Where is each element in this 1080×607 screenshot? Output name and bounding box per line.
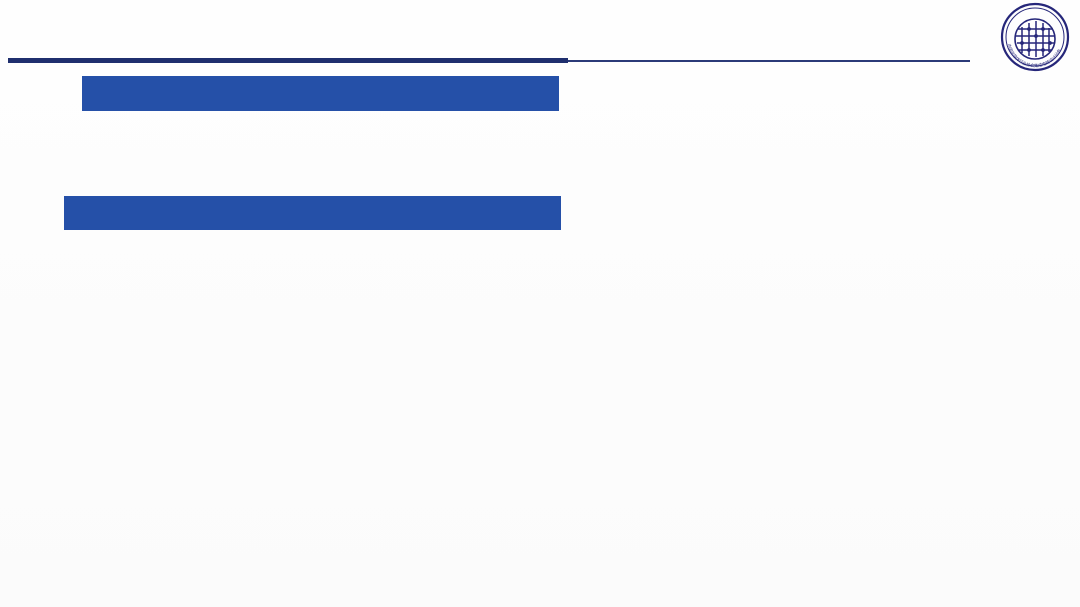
- th-year-2022: [377, 77, 559, 94]
- th-count-2021: [195, 94, 285, 111]
- th-city-year-2022: [313, 197, 561, 213]
- th-city-count-2022: [391, 213, 461, 229]
- th-city-share-2021: [213, 213, 313, 229]
- th-share-2021: [285, 94, 377, 111]
- th-share-2022: [467, 94, 559, 111]
- th-city-count-2021: [143, 213, 213, 229]
- th-city-2022: [313, 213, 391, 229]
- svg-text:中国半导体行业协会集成电路设计分会: 中国半导体行业协会集成电路设计分会: [1005, 43, 1063, 69]
- th-city-year-2021: [65, 197, 313, 213]
- title-divider-thin: [568, 60, 970, 62]
- th-year-2021: [195, 77, 377, 94]
- th-region: [83, 77, 195, 111]
- th-city-share-2022: [461, 213, 561, 229]
- title-divider-strong: [8, 58, 568, 63]
- table-region-distribution: [82, 76, 559, 111]
- table-city-distribution: [64, 196, 561, 230]
- pie-region-svg: [620, 70, 1000, 285]
- pie-city-svg: [610, 300, 1070, 525]
- title-divider: [8, 58, 970, 63]
- chart-pie-region: [620, 70, 1000, 285]
- chart-pie-city: [610, 300, 1070, 525]
- th-city-2021: [65, 213, 143, 229]
- iccad-logo: 中国半导体行业协会集成电路设计分会: [998, 2, 1072, 72]
- th-count-2022: [377, 94, 467, 111]
- slide-root: 中国半导体行业协会集成电路设计分会: [0, 0, 1080, 607]
